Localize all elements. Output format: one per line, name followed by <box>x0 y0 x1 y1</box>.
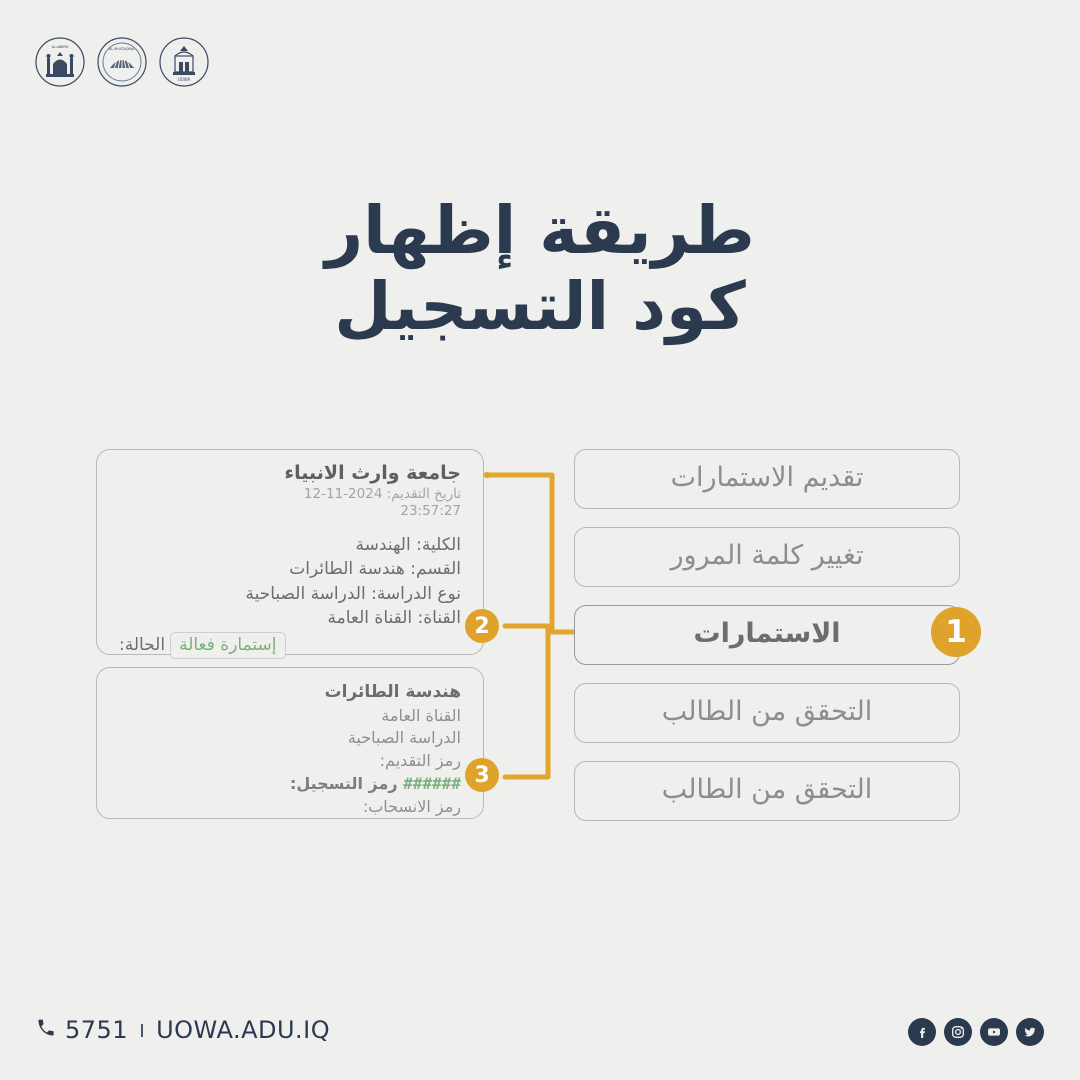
svg-text:AL-ANBIYA: AL-ANBIYA <box>52 45 69 49</box>
submit-date: تاريخ التقديم: 2024-11-12 <box>119 486 461 503</box>
menu-item-label: تقديم الاستمارات <box>671 462 864 493</box>
registration-code-card: هندسة الطائرات القناة العامة الدراسة الص… <box>96 667 484 819</box>
university-seal-2: AL-MUSTAQBAL <box>96 36 148 88</box>
menu-item-label: التحقق من الطالب <box>662 774 873 805</box>
step-badge-1: 1 <box>931 607 981 657</box>
study-type-row: نوع الدراسة: الدراسة الصباحية <box>119 582 461 606</box>
step-badge-2: 2 <box>465 609 499 643</box>
phone-icon <box>36 1016 56 1044</box>
connector-dot-card-a <box>484 472 490 478</box>
university-seal-1: UOWA <box>158 36 210 88</box>
status-row: إستمارة فعالة الحالة: <box>119 632 461 659</box>
footer-contact: 5751 UOWA.ADU.IQ <box>36 1016 330 1044</box>
university-seal-3: AL-ANBIYA <box>34 36 86 88</box>
university-name: جامعة وارث الانبياء <box>119 462 461 486</box>
social-links <box>908 1018 1044 1046</box>
menu-item-verify-student-1[interactable]: التحقق من الطالب <box>574 683 960 743</box>
menu-item-forms[interactable]: الاستمارات <box>574 605 960 665</box>
title-line-1: طريقة إظهار <box>0 196 1080 266</box>
youtube-icon[interactable] <box>980 1018 1008 1046</box>
card-b-channel: القناة العامة <box>119 705 461 728</box>
status-badge: إستمارة فعالة <box>170 632 285 659</box>
menu-list: تقديم الاستمارات تغيير كلمة المرور الاست… <box>574 449 960 839</box>
menu-item-verify-student-2[interactable]: التحقق من الطالب <box>574 761 960 821</box>
submit-time: 23:57:27 <box>119 503 461 520</box>
footer-divider <box>141 1024 143 1037</box>
step-badge-3: 3 <box>465 758 499 792</box>
facebook-icon[interactable] <box>908 1018 936 1046</box>
website-url: UOWA.ADU.IQ <box>156 1016 330 1044</box>
menu-item-label: الاستمارات <box>693 618 840 649</box>
poster-canvas: UOWA AL-MUSTAQBAL AL-ANBIYA <box>0 0 1080 1080</box>
title-line-2: كود التسجيل <box>0 272 1080 342</box>
page-title: طريقة إظهار كود التسجيل <box>0 196 1080 342</box>
menu-item-submit-forms[interactable]: تقديم الاستمارات <box>574 449 960 509</box>
channel-row: القناة: القناة العامة <box>119 606 461 630</box>
withdraw-code-label: رمز الانسحاب: <box>119 796 461 819</box>
registration-code-row: ###### رمز التسجيل: <box>119 773 461 796</box>
department-row: القسم: هندسة الطائرات <box>119 557 461 581</box>
svg-text:UOWA: UOWA <box>178 77 191 82</box>
college-row: الكلية: الهندسة <box>119 533 461 557</box>
card-b-department: هندسة الطائرات <box>119 680 461 705</box>
twitter-icon[interactable] <box>1016 1018 1044 1046</box>
menu-item-label: التحقق من الطالب <box>662 696 873 727</box>
instagram-icon[interactable] <box>944 1018 972 1046</box>
submit-code-label: رمز التقديم: <box>119 750 461 773</box>
menu-item-change-password[interactable]: تغيير كلمة المرور <box>574 527 960 587</box>
registration-code-label: رمز التسجيل: <box>290 774 398 793</box>
registration-code-value: ###### <box>403 774 461 793</box>
status-label: الحالة: <box>119 635 165 655</box>
card-b-study-type: الدراسة الصباحية <box>119 727 461 750</box>
phone-number: 5751 <box>65 1016 128 1044</box>
form-summary-card: جامعة وارث الانبياء تاريخ التقديم: 2024-… <box>96 449 484 655</box>
menu-item-label: تغيير كلمة المرور <box>670 540 863 571</box>
university-seals: UOWA AL-MUSTAQBAL AL-ANBIYA <box>34 36 210 88</box>
svg-text:AL-MUSTAQBAL: AL-MUSTAQBAL <box>109 47 135 51</box>
